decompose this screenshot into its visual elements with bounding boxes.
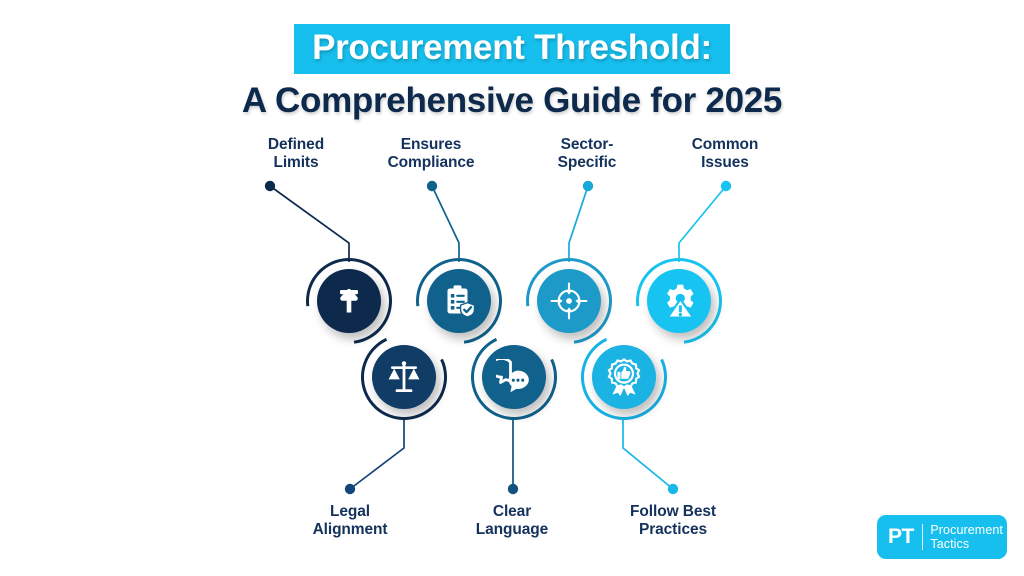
node-sector-specific[interactable] [526,258,612,344]
node-label-defined-limits: Defined Limits [236,136,356,172]
node-disc [317,269,381,333]
title-line-2: A Comprehensive Guide for 2025 [0,83,1024,118]
node-clear-language[interactable] [471,334,557,420]
connector-legal-alignment [350,420,404,489]
logo-initials: PT [888,525,914,549]
connector-follow-best-practices [623,420,673,489]
connector-dot-clear-language [508,484,518,494]
logo-divider [922,524,924,550]
connector-defined-limits [270,186,349,262]
node-label-ensures-compliance: Ensures Compliance [371,136,491,172]
node-ensures-compliance[interactable] [416,258,502,344]
node-label-clear-language: Clear Language [452,503,572,539]
node-label-common-issues: Common Issues [665,136,785,172]
node-defined-limits[interactable] [306,258,392,344]
infographic-canvas: Procurement Threshold: A Comprehensive G… [0,0,1024,576]
node-label-legal-alignment: Legal Alignment [290,503,410,539]
connector-ensures-compliance [432,186,459,262]
node-disc [647,269,711,333]
threshold-arrow-icon [332,284,366,318]
connector-dot-common-issues [721,181,731,191]
target-crosshair-icon [550,282,588,320]
title-line-1: Procurement Threshold: [294,24,730,74]
connector-sector-specific [569,186,588,262]
node-legal-alignment[interactable] [361,334,447,420]
node-disc [537,269,601,333]
connector-dot-ensures-compliance [427,181,437,191]
logo-wordmark-line-1: Procurement [930,523,1003,538]
node-disc [482,345,546,409]
page-title: Procurement Threshold: A Comprehensive G… [0,24,1024,118]
logo-wordmark-line-2: Tactics [930,537,1003,552]
connector-common-issues [679,186,726,262]
node-follow-best-practices[interactable] [581,334,667,420]
node-disc [592,345,656,409]
connector-dot-legal-alignment [345,484,355,494]
node-disc [372,345,436,409]
brand-logo[interactable]: PT Procurement Tactics [877,515,1007,559]
logo-wordmark: Procurement Tactics [930,523,1003,552]
thumbs-up-badge-icon [605,358,643,396]
speech-bubbles-icon [496,359,532,395]
gear-warning-icon [660,282,698,320]
node-label-sector-specific: Sector- Specific [527,136,647,172]
node-common-issues[interactable] [636,258,722,344]
node-label-follow-best-practices: Follow Best Practices [613,503,733,539]
node-disc [427,269,491,333]
connector-dot-follow-best-practices [668,484,678,494]
connector-dot-defined-limits [265,181,275,191]
connector-dot-sector-specific [583,181,593,191]
clipboard-shield-check-icon [441,283,477,319]
scales-of-justice-icon [386,359,422,395]
